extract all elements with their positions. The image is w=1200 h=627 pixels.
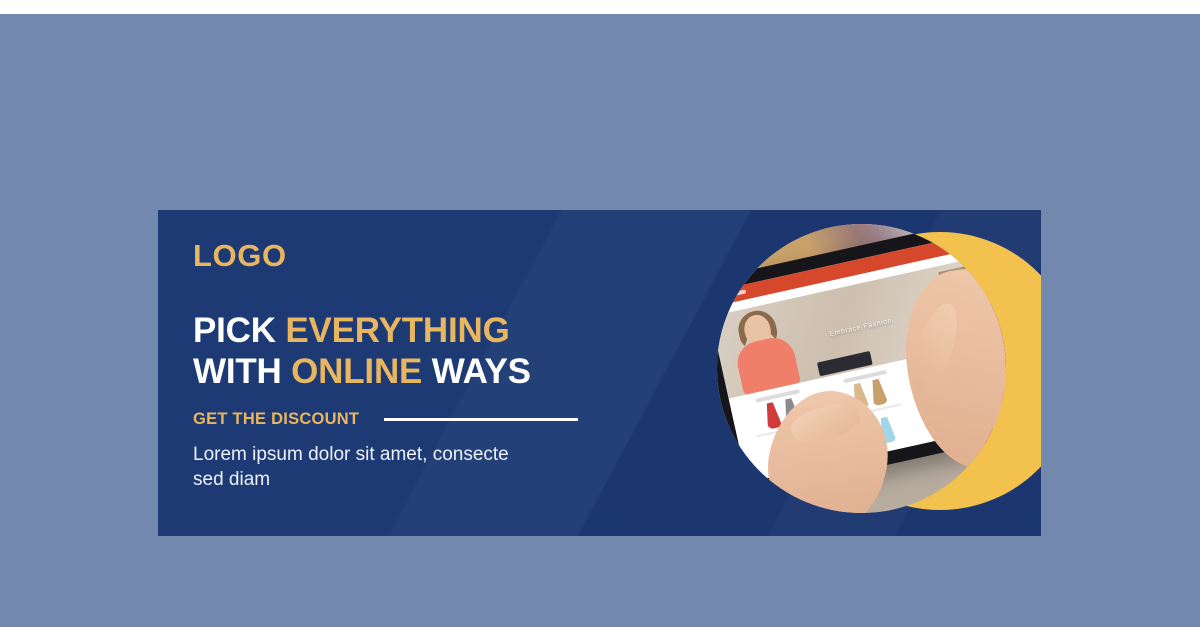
sub-copy: Lorem ipsum dolor sit amet, consecte sed… bbox=[193, 442, 523, 493]
photo-scene: Embrace Fashion bbox=[717, 224, 1006, 513]
hero-caption: Embrace Fashion bbox=[829, 317, 893, 338]
headline-word-online: ONLINE bbox=[291, 352, 422, 391]
headline: PICK EVERYTHING WITH ONLINE WAYS bbox=[193, 310, 531, 393]
banner-canvas: Embrace Fashion bbox=[0, 0, 1200, 627]
headline-word-ways: WAYS bbox=[432, 352, 531, 391]
product-thumb bbox=[868, 378, 888, 407]
tablet-photo-circle: Embrace Fashion bbox=[717, 224, 1006, 513]
headline-word-pick: PICK bbox=[193, 311, 276, 350]
brand-logo[interactable]: LOGO bbox=[193, 240, 287, 271]
banner-text-column: LOGO PICK EVERYTHING WITH ONLINE WAYS GE… bbox=[193, 210, 663, 536]
promo-banner-card[interactable]: Embrace Fashion bbox=[158, 210, 1041, 536]
discount-label: GET THE DISCOUNT bbox=[193, 410, 359, 429]
top-white-strip bbox=[0, 0, 1200, 14]
banner-visual: Embrace Fashion bbox=[661, 210, 1041, 536]
discount-divider-rule bbox=[384, 418, 578, 421]
discount-row: GET THE DISCOUNT bbox=[193, 410, 613, 429]
headline-word-everything: EVERYTHING bbox=[285, 311, 509, 350]
headline-line-1: PICK EVERYTHING bbox=[193, 310, 531, 351]
headline-line-2: WITH ONLINE WAYS bbox=[193, 351, 531, 392]
headline-word-with: WITH bbox=[193, 352, 282, 391]
